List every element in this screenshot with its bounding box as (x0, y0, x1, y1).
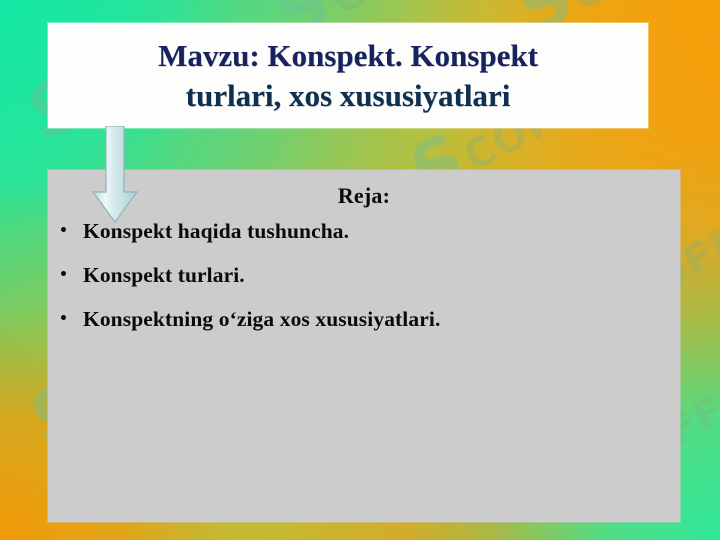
bullet-dot-icon (61, 227, 66, 232)
bullet-dot-icon (61, 271, 66, 276)
down-arrow-icon (92, 126, 138, 224)
agenda-heading: Reja: (48, 183, 680, 209)
title-line-2: turlari, xos xususiyatlari (186, 78, 511, 113)
list-item-label: Konspekt turlari. (83, 263, 245, 287)
list-item: Konspektning o‘ziga xos xususiyatlari. (48, 307, 680, 332)
agenda-list: Konspekt haqida tushuncha. Konspekt turl… (48, 219, 680, 332)
list-item: Konspekt haqida tushuncha. (48, 219, 680, 244)
bullet-dot-icon (61, 315, 66, 320)
page-title: Mavzu: Konspekt. Konspekt turlari, xos x… (144, 36, 552, 115)
list-item-label: Konspektning o‘ziga xos xususiyatlari. (83, 307, 440, 331)
slide-title-box: Mavzu: Konspekt. Konspekt turlari, xos x… (48, 23, 648, 128)
content-panel: Reja: Konspekt haqida tushuncha. Konspek… (48, 170, 680, 522)
title-line-1: Mavzu: Konspekt. Konspekt (158, 38, 538, 73)
presentation-slide: S COFF S COFF S COFF S COFF S COFF S COF… (0, 0, 720, 540)
list-item: Konspekt turlari. (48, 263, 680, 288)
